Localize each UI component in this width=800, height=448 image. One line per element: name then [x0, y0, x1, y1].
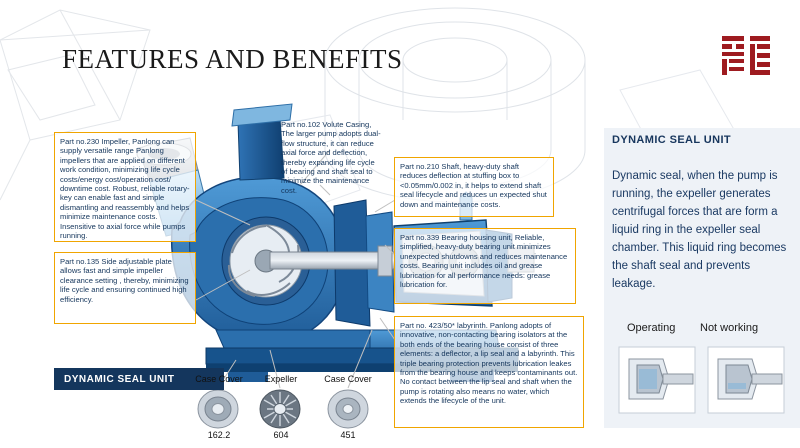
part-name-expeller: Expeller: [250, 374, 312, 384]
callout-bearing-housing: Part no.339 Bearing housing unit, Reliab…: [394, 228, 576, 304]
callout-labyrinth: Part no. 423/50* labyrinth. Panlong adop…: [394, 316, 584, 428]
seal-not-working-diagram: [706, 345, 786, 415]
part-number-case-cover-1: 162.2: [186, 430, 252, 440]
callout-shaft: Part no.210 Shaft, heavy-duty shaft redu…: [394, 157, 554, 217]
part-name-case-cover-2: Case Cover: [314, 374, 382, 384]
dynamic-seal-unit-heading: DYNAMIC SEAL UNIT: [612, 134, 731, 146]
slide-canvas: FEATURES AND BENEFITS: [0, 0, 800, 448]
caption-not-working: Not working: [700, 322, 758, 334]
panlong-logo: [716, 30, 776, 82]
case-cover-part-2: [326, 388, 370, 430]
caption-operating: Operating: [627, 322, 675, 334]
part-name-case-cover-1: Case Cover: [186, 374, 252, 384]
part-number-expeller: 604: [250, 430, 312, 440]
callout-side-plate: Part no.135 Side adjustable plate allows…: [54, 252, 196, 324]
callout-volute-casing: Part no.102 Volute Casing, The larger pu…: [276, 116, 386, 206]
expeller-part: [258, 388, 302, 430]
dynamic-seal-unit-text: Dynamic seal, when the pump is running, …: [612, 167, 792, 293]
part-number-case-cover-2: 451: [314, 430, 382, 440]
seal-operating-diagram: [617, 345, 697, 415]
case-cover-part-1: [196, 388, 240, 430]
callout-impeller: Part no.230 Impeller, Panlong can supply…: [54, 132, 196, 242]
